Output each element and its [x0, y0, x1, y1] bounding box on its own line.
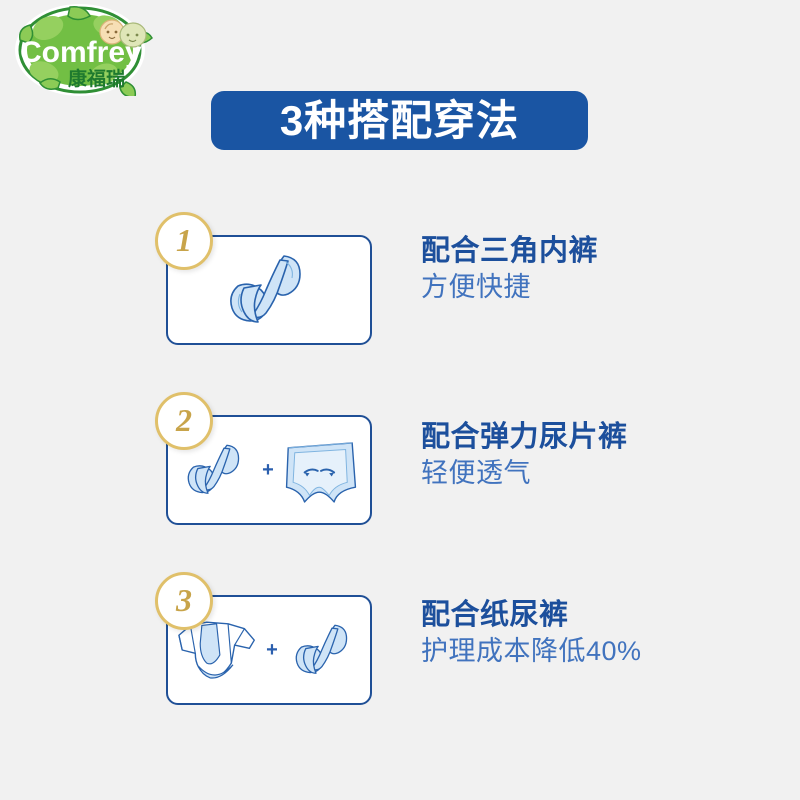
usage-text-3: 配合纸尿裤 护理成本降低40%: [421, 598, 642, 669]
incontinence-pad-icon: [214, 246, 324, 334]
plus-separator-3: +: [266, 640, 278, 660]
page-title: 3种搭配穿法: [280, 100, 519, 142]
stretch-mesh-pant-icon: [280, 433, 362, 507]
comfrey-logo: Comfrey 康福瑞: [8, 4, 168, 96]
logo-graphic: Comfrey 康福瑞: [8, 4, 168, 96]
incontinence-pad-icon: [284, 611, 364, 689]
usage-text-2: 配合弹力尿片裤 轻便透气: [421, 420, 628, 491]
usage-heading-2: 配合弹力尿片裤: [421, 420, 628, 455]
plus-separator-2: +: [262, 460, 274, 480]
usage-subtext-2: 轻便透气: [421, 457, 628, 490]
page-title-banner: 3种搭配穿法: [211, 91, 588, 150]
logo-english-text: Comfrey: [20, 36, 142, 69]
usage-heading-1: 配合三角内裤: [421, 234, 598, 269]
step-number-2: 2: [176, 404, 192, 436]
logo-chinese-text: 康福瑞: [68, 67, 125, 90]
step-number-3: 3: [176, 584, 192, 616]
step-badge-3: 3: [155, 572, 213, 630]
step-number-1: 1: [176, 224, 192, 256]
step-badge-1: 1: [155, 212, 213, 270]
step-badge-2: 2: [155, 392, 213, 450]
usage-subtext-1: 方便快捷: [421, 271, 598, 304]
usage-text-1: 配合三角内裤 方便快捷: [421, 234, 598, 305]
usage-subtext-3: 护理成本降低40%: [421, 635, 642, 668]
usage-heading-3: 配合纸尿裤: [421, 598, 642, 633]
